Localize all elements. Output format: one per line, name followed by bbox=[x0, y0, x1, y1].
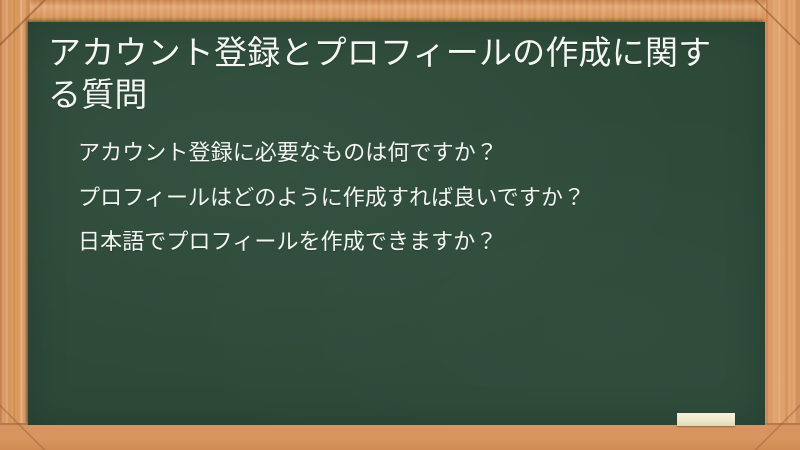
question-list: アカウント登録に必要なものは何ですか？ プロフィールはどのように作成すれば良いで… bbox=[46, 138, 747, 258]
chalkboard-slide: アカウント登録とプロフィールの作成に関する質問 アカウント登録に必要なものは何で… bbox=[0, 0, 800, 450]
frame-right-stile bbox=[766, 0, 800, 450]
question-item: 日本語でプロフィールを作成できますか？ bbox=[78, 227, 718, 258]
frame-bottom-ledge bbox=[0, 423, 800, 450]
slide-title: アカウント登録とプロフィールの作成に関する質問 bbox=[46, 30, 738, 116]
chalkboard-content: アカウント登録とプロフィールの作成に関する質問 アカウント登録に必要なものは何で… bbox=[28, 22, 765, 425]
frame-top-rail bbox=[0, 0, 800, 23]
chalkboard-surface: アカウント登録とプロフィールの作成に関する質問 アカウント登録に必要なものは何で… bbox=[28, 22, 765, 425]
chalk-eraser bbox=[677, 413, 735, 426]
question-item: プロフィールはどのように作成すれば良いですか？ bbox=[78, 183, 718, 214]
question-item: アカウント登録に必要なものは何ですか？ bbox=[78, 138, 718, 169]
frame-left-stile bbox=[0, 0, 30, 450]
